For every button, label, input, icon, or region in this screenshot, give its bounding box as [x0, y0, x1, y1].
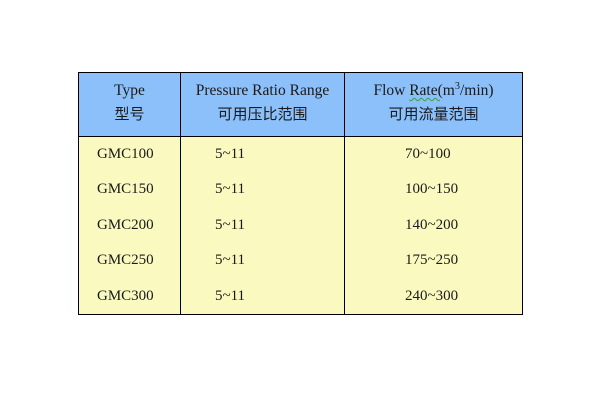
- specification-table-container: Type 型号 Pressure Ratio Range 可用压比范围 Flow…: [78, 72, 522, 315]
- cell-ratio: 5~11: [181, 172, 345, 207]
- column-header-flow-rate-en: Flow Rate(m3/min): [345, 79, 522, 103]
- cell-ratio: 5~11: [181, 243, 345, 278]
- cell-type: GMC300: [79, 279, 181, 315]
- column-header-type-zh: 型号: [79, 103, 180, 128]
- column-header-flow-rate: Flow Rate(m3/min) 可用流量范围: [345, 73, 523, 137]
- column-header-pressure-ratio-range-zh: 可用压比范围: [181, 103, 344, 128]
- column-header-flow-rate-zh: 可用流量范围: [345, 103, 522, 128]
- cell-type: GMC100: [79, 136, 181, 172]
- cell-type: GMC250: [79, 243, 181, 278]
- table-header: Type 型号 Pressure Ratio Range 可用压比范围 Flow…: [79, 73, 523, 137]
- table-body: GMC100 5~11 70~100 GMC150 5~11 100~150 G…: [79, 136, 523, 314]
- cell-flow: 100~150: [345, 172, 523, 207]
- cell-flow: 175~250: [345, 243, 523, 278]
- header-row: Type 型号 Pressure Ratio Range 可用压比范围 Flow…: [79, 73, 523, 137]
- cell-flow: 240~300: [345, 279, 523, 315]
- cell-flow: 70~100: [345, 136, 523, 172]
- column-header-pressure-ratio-range-en: Pressure Ratio Range: [181, 79, 344, 103]
- table-row: GMC100 5~11 70~100: [79, 136, 523, 172]
- specification-table: Type 型号 Pressure Ratio Range 可用压比范围 Flow…: [78, 72, 523, 315]
- table-row: GMC150 5~11 100~150: [79, 172, 523, 207]
- cell-ratio: 5~11: [181, 279, 345, 315]
- column-header-pressure-ratio-range: Pressure Ratio Range 可用压比范围: [181, 73, 345, 137]
- column-header-type: Type 型号: [79, 73, 181, 137]
- table-row: GMC300 5~11 240~300: [79, 279, 523, 315]
- flow-rate-unit-tail: /min): [460, 82, 494, 99]
- cell-ratio: 5~11: [181, 136, 345, 172]
- flow-rate-misspelled-text: Rate(: [409, 82, 443, 99]
- table-row: GMC200 5~11 140~200: [79, 208, 523, 243]
- table-row: GMC250 5~11 175~250: [79, 243, 523, 278]
- cell-type: GMC200: [79, 208, 181, 243]
- cell-flow: 140~200: [345, 208, 523, 243]
- column-header-type-en: Type: [79, 79, 180, 103]
- flow-rate-unit-base: m: [443, 82, 455, 99]
- cell-ratio: 5~11: [181, 208, 345, 243]
- cell-type: GMC150: [79, 172, 181, 207]
- flow-rate-lead-text: Flow: [373, 82, 409, 99]
